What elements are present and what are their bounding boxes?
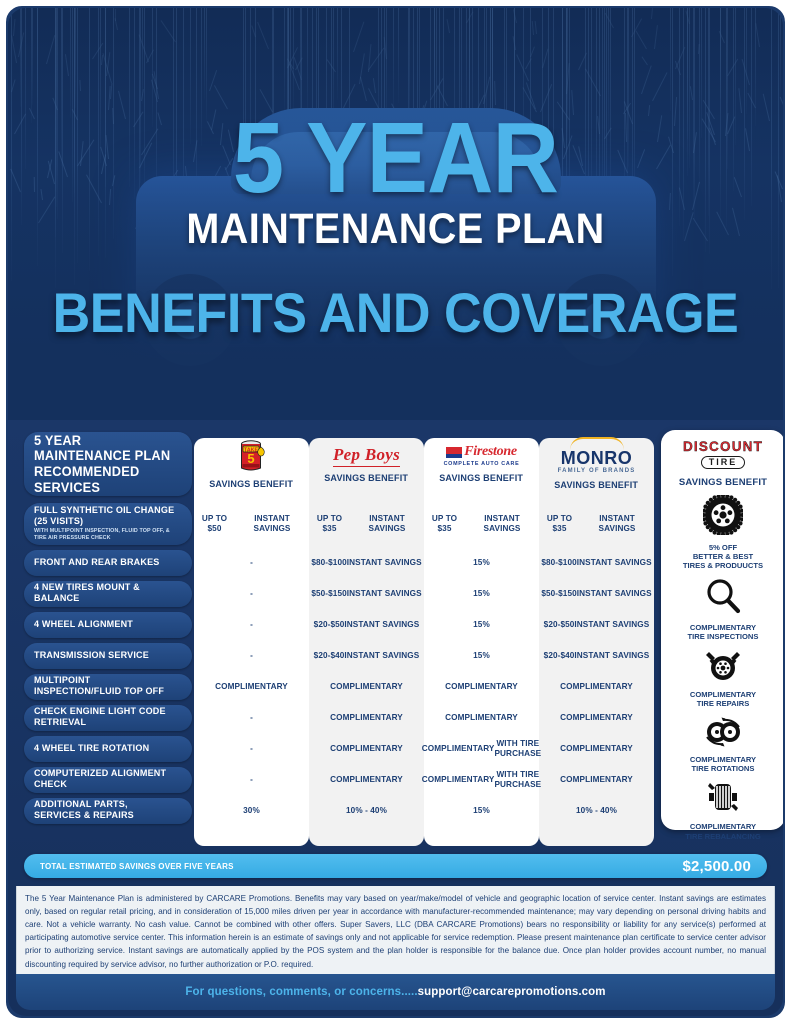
row-label: COMPUTERIZED ALIGNMENT CHECK: [24, 767, 192, 793]
firestone-logo-icon: Firestone COMPLETE AUTO CARE: [444, 444, 520, 467]
table-cell: UP TO $35INSTANT SAVINGS: [309, 503, 424, 545]
table-cell: -: [194, 767, 309, 793]
discount-tire-benefit-caption: COMPLIMENTARYTIRE REBALANCING: [685, 822, 761, 840]
row-label: CHECK ENGINE LIGHT CODE RETRIEVAL: [24, 705, 192, 731]
hero-title-5year: 5 YEAR: [39, 112, 752, 204]
row-label-text: FRONT AND REAR BRAKES: [34, 558, 175, 569]
magnifier-icon: [704, 577, 742, 620]
table-cell: 15%: [424, 581, 539, 607]
table-cell: 30%: [194, 798, 309, 824]
table-cell: 15%: [424, 612, 539, 638]
table-cell: $20-$50INSTANT SAVINGS: [309, 612, 424, 638]
header-label-line2: RECOMMENDED SERVICES: [34, 464, 175, 495]
discount-tire-benefit: COMPLIMENTARYTIRE ROTATIONS: [683, 715, 763, 773]
table-header-label: 5 YEAR MAINTENANCE PLAN RECOMMENDED SERV…: [24, 432, 192, 496]
flyer-page: 5 YEAR MAINTENANCE PLAN BENEFITS AND COV…: [0, 0, 791, 1024]
discount-tire-subword: TIRE: [701, 456, 746, 469]
table-cell: COMPLIMENTARY: [309, 674, 424, 700]
table-cell: -: [194, 612, 309, 638]
svg-text:5: 5: [247, 451, 254, 466]
table-cell: COMPLIMENTARY: [424, 674, 539, 700]
savings-benefit-label-discount-tire: SAVINGS BENEFIT: [679, 477, 767, 488]
discount-tire-benefit: COMPLIMENTARYTIRE REPAIRS: [683, 648, 763, 708]
row-label: FRONT AND REAR BRAKES: [24, 550, 192, 576]
monro-wordmark: MONRO: [561, 449, 633, 467]
tire-rotation-icon: [701, 715, 745, 752]
row-label-text: CHECK ENGINE LIGHT CODE RETRIEVAL: [34, 707, 175, 728]
hero-text-block: 5 YEAR MAINTENANCE PLAN BENEFITS AND COV…: [8, 112, 783, 341]
flyer-inner: 5 YEAR MAINTENANCE PLAN BENEFITS AND COV…: [8, 8, 783, 1016]
row-label-text: COMPUTERIZED ALIGNMENT CHECK: [34, 769, 175, 790]
row-label: 4 WHEEL ALIGNMENT: [24, 612, 192, 638]
header-cell-monro: MONRO FAMILY OF BRANDS SAVINGS BENEFIT: [539, 432, 654, 496]
savings-benefit-label-firestone: SAVINGS BENEFIT: [440, 473, 524, 484]
discount-tire-benefit-caption: COMPLIMENTARYTIRE ROTATIONS: [690, 755, 756, 773]
hero-title-benefits-coverage: BENEFITS AND COVERAGE: [35, 285, 756, 341]
header-cell-firestone: Firestone COMPLETE AUTO CARE SAVINGS BEN…: [424, 432, 539, 496]
table-cell: COMPLIMENTARYWITH TIRE PURCHASE: [424, 736, 539, 762]
discount-tire-benefit-caption: COMPLIMENTARYTIRE INSPECTIONS: [688, 623, 759, 641]
header-cell-pepboys: Pep Boys SAVINGS BENEFIT: [309, 432, 424, 496]
table-cell: $50-$150INSTANT SAVINGS: [309, 581, 424, 607]
footer-support-email[interactable]: support@carcarepromotions.com: [418, 986, 606, 998]
table-cell: -: [194, 705, 309, 731]
discount-tire-benefit: COMPLIMENTARYTIRE REBALANCING: [683, 780, 763, 840]
table-cell: COMPLIMENTARY: [539, 674, 654, 700]
table-cell: COMPLIMENTARYWITH TIRE PURCHASE: [424, 767, 539, 793]
total-savings-label: TOTAL ESTIMATED SAVINGS OVER FIVE YEARS: [40, 862, 234, 871]
discount-tire-benefit: COMPLIMENTARYTIRE INSPECTIONS: [683, 577, 763, 641]
savings-benefit-label-take5: SAVINGS BENEFIT: [210, 479, 294, 490]
table-cell: -: [194, 736, 309, 762]
row-label-text: 4 WHEEL TIRE ROTATION: [34, 744, 175, 755]
tire-balance-icon: [703, 780, 743, 819]
table-cell: 10% - 40%: [539, 798, 654, 824]
discount-tire-card: DISCOUNT TIRE SAVINGS BENEFIT 5% OFFBETT…: [661, 430, 783, 830]
table-cell: COMPLIMENTARY: [539, 767, 654, 793]
table-cell: COMPLIMENTARY: [309, 767, 424, 793]
row-label: MULTIPOINT INSPECTION/FLUID TOP OFF: [24, 674, 192, 700]
hero-banner: 5 YEAR MAINTENANCE PLAN BENEFITS AND COV…: [8, 8, 783, 420]
table-cell: UP TO $50INSTANT SAVINGS: [194, 503, 309, 545]
table-cell: $80-$100INSTANT SAVINGS: [539, 550, 654, 576]
table-cell: COMPLIMENTARY: [539, 705, 654, 731]
table-cell: 15%: [424, 643, 539, 669]
row-label-text: ADDITIONAL PARTS, SERVICES & REPAIRS: [34, 800, 175, 821]
table-cell: -: [194, 550, 309, 576]
take5-logo-icon: TAKE 5: [237, 439, 267, 473]
row-label: ADDITIONAL PARTS, SERVICES & REPAIRS: [24, 798, 192, 824]
total-savings-amount: $2,500.00: [682, 858, 751, 875]
table-cell: COMPLIMENTARY: [309, 705, 424, 731]
disclaimer-text: The 5 Year Maintenance Plan is administe…: [16, 886, 775, 984]
table-cell: $20-$40INSTANT SAVINGS: [309, 643, 424, 669]
table-cell: COMPLIMENTARY: [424, 705, 539, 731]
discount-tire-logo-icon: DISCOUNT TIRE: [683, 440, 763, 469]
footer-question-text: For questions, comments, or concerns....…: [185, 986, 417, 998]
tire-repair-icon: [703, 648, 743, 687]
row-label-text: 4 WHEEL ALIGNMENT: [34, 620, 175, 631]
row-label-text: TRANSMISSION SERVICE: [34, 651, 175, 662]
discount-tire-benefit-list: 5% OFFBETTER & BESTTIRES & PRODUUCTSCOMP…: [683, 488, 763, 841]
row-label: 4 WHEEL TIRE ROTATION: [24, 736, 192, 762]
row-label: 4 NEW TIRES MOUNT & BALANCE: [24, 581, 192, 607]
header-cell-take5: TAKE 5 SAVINGS BENEFIT: [194, 432, 309, 496]
table-cell: $80-$100INSTANT SAVINGS: [309, 550, 424, 576]
tire-wheel-icon: [703, 495, 743, 540]
table-cell: 15%: [424, 550, 539, 576]
row-label-text: MULTIPOINT INSPECTION/FLUID TOP OFF: [34, 676, 175, 697]
discount-tire-benefit-caption: COMPLIMENTARYTIRE REPAIRS: [690, 690, 756, 708]
table-cell: 10% - 40%: [309, 798, 424, 824]
monro-tagline: FAMILY OF BRANDS: [558, 468, 636, 474]
total-savings-bar: TOTAL ESTIMATED SAVINGS OVER FIVE YEARS …: [24, 854, 767, 878]
row-label-text: 4 NEW TIRES MOUNT & BALANCE: [34, 583, 175, 604]
firestone-wordmark: Firestone: [464, 444, 517, 460]
table-cell: $20-$50INSTANT SAVINGS: [539, 612, 654, 638]
table-cell: 15%: [424, 798, 539, 824]
row-label: TRANSMISSION SERVICE: [24, 643, 192, 669]
table-cell: UP TO $35INSTANT SAVINGS: [424, 503, 539, 545]
monro-logo-icon: MONRO FAMILY OF BRANDS: [558, 437, 636, 474]
row-sublabel-text: WITH MULTIPOINT INSPECTION, FLUID TOP OF…: [34, 528, 176, 542]
table-cell: $20-$40INSTANT SAVINGS: [539, 643, 654, 669]
row-label-text: FULL SYNTHETIC OIL CHANGE (25 VISITS): [34, 506, 175, 527]
table-cell: $50-$150INSTANT SAVINGS: [539, 581, 654, 607]
discount-tire-benefit: 5% OFFBETTER & BESTTIRES & PRODUUCTS: [683, 495, 763, 570]
firestone-tagline: COMPLETE AUTO CARE: [444, 461, 520, 467]
discount-tire-benefit-caption: 5% OFFBETTER & BESTTIRES & PRODUUCTS: [683, 543, 763, 570]
savings-benefit-label-pepboys: SAVINGS BENEFIT: [325, 473, 409, 484]
hero-title-maintenance-plan: MAINTENANCE PLAN: [39, 208, 752, 251]
table-cell: COMPLIMENTARY: [194, 674, 309, 700]
table-cell: -: [194, 643, 309, 669]
pepboys-logo-icon: Pep Boys: [333, 445, 400, 467]
header-label-line1: 5 YEAR MAINTENANCE PLAN: [34, 433, 175, 464]
table-cell: COMPLIMENTARY: [539, 736, 654, 762]
row-label: FULL SYNTHETIC OIL CHANGE (25 VISITS)WIT…: [24, 503, 192, 545]
table-cell: -: [194, 581, 309, 607]
table-cell: UP TO $35INSTANT SAVINGS: [539, 503, 654, 545]
savings-benefit-label-monro: SAVINGS BENEFIT: [555, 480, 639, 491]
table-cell: COMPLIMENTARY: [309, 736, 424, 762]
discount-tire-wordmark: DISCOUNT: [683, 440, 763, 454]
footer-bar: For questions, comments, or concerns....…: [16, 974, 775, 1010]
